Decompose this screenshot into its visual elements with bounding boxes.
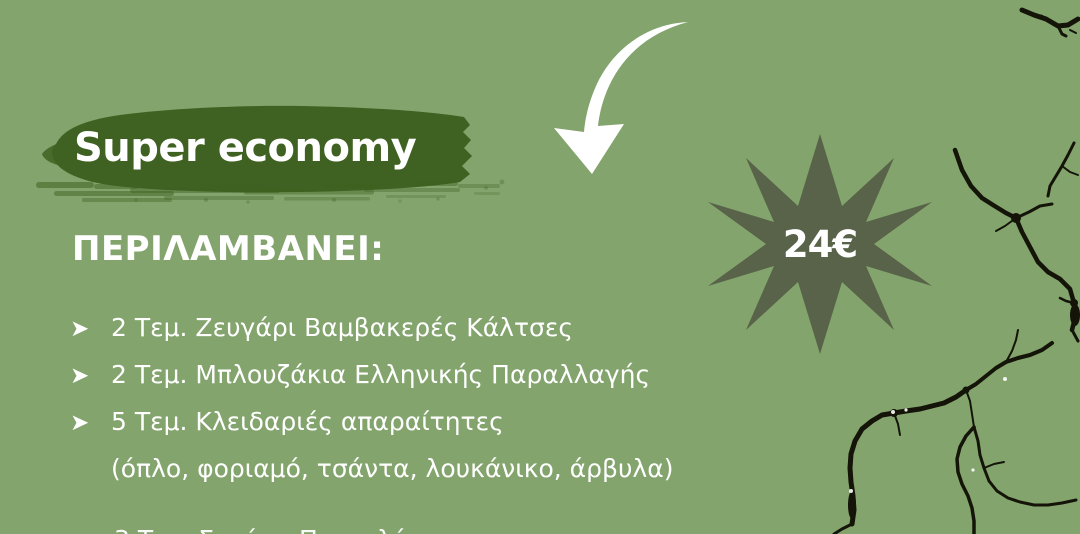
curved-down-arrow	[536, 8, 706, 178]
price-value: 24€	[706, 130, 934, 358]
price-badge: 24€	[706, 130, 934, 358]
arrow-bullet-icon: ➤	[70, 312, 111, 344]
banner-label: Super economy	[74, 118, 494, 178]
list-item: ➤ 5 Τεμ. Κλειδαριές απαραίτητες	[70, 406, 830, 453]
brush-banner: Super economy	[34, 96, 514, 212]
list-item-label: 2 Τεμ. Ζευγάρι Βαμβακερές Κάλτσες	[111, 312, 573, 344]
page-title: ΠΕΡΙΛΑΜΒΑΝΕΙ:	[72, 229, 384, 269]
list-item-label: 5 Τεμ. Κλειδαριές απαραίτητες	[111, 406, 504, 438]
promo-poster: Super economy ΠΕΡΙΛΑΜΒΑΝΕΙ: ➤ 2 Τεμ. Ζευ…	[0, 0, 1080, 534]
curved-down-arrow-icon	[536, 8, 706, 178]
bottom-cutoff-label: 3 Τεμ. Σκούρα Παντελόνια	[114, 524, 446, 534]
arrow-bullet-icon: ➤	[70, 406, 111, 438]
list-item-label: (όπλο, φοριαμό, τσάντα, λουκάνικο, άρβυλ…	[111, 453, 673, 485]
list-item-label: 2 Τεμ. Μπλουζάκια Ελληνικής Παραλλαγής	[111, 359, 650, 391]
list-item: ➤ 2 Τεμ. Μπλουζάκια Ελληνικής Παραλλαγής	[70, 359, 830, 406]
list-item-continuation: ➤ (όπλο, φοριαμό, τσάντα, λουκάνικο, άρβ…	[70, 453, 830, 500]
arrow-bullet-icon: ➤	[70, 359, 111, 391]
